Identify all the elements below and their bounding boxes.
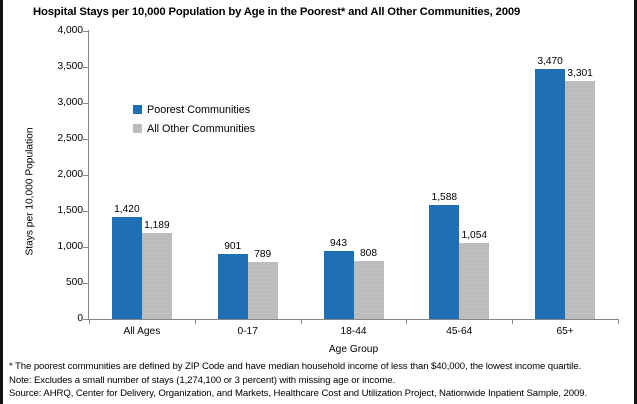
x-category-label: 18-44 xyxy=(294,326,414,337)
x-tick-mark xyxy=(512,319,513,324)
chart-container: Hospital Stays per 10,000 Population by … xyxy=(0,0,637,404)
legend-swatch-icon-poorest xyxy=(133,105,142,114)
bar-group: 901789 xyxy=(218,31,278,319)
x-axis-title: Age Group xyxy=(89,344,618,355)
y-tick-mark xyxy=(83,103,88,104)
bar-poorest[interactable]: 3,470 xyxy=(535,69,565,319)
footnotes: * The poorest communities are defined by… xyxy=(9,360,634,401)
x-tick-mark xyxy=(406,319,407,324)
y-tick-label: 500 xyxy=(37,278,83,288)
bar-value-label: 1,588 xyxy=(432,192,458,203)
bar-all-other[interactable]: 1,054 xyxy=(459,243,489,319)
x-category-label: 0-17 xyxy=(188,326,308,337)
x-tick-mark xyxy=(89,319,90,324)
x-category-label: 45-64 xyxy=(399,326,519,337)
legend-label-poorest: Poorest Communities xyxy=(147,104,250,116)
legend-item-all-other: All Other Communities xyxy=(133,119,255,138)
bar-group: 1,4201,189 xyxy=(112,31,172,319)
y-tick-mark xyxy=(83,67,88,68)
chart-title: Hospital Stays per 10,000 Population by … xyxy=(33,6,623,18)
footnote-source: Source: AHRQ, Center for Delivery, Organ… xyxy=(9,387,634,401)
bar-poorest[interactable]: 1,588 xyxy=(429,205,459,319)
y-tick-mark xyxy=(83,211,88,212)
y-axis-tick-labels: 05001,0001,5002,0002,5003,0003,5004,000 xyxy=(28,0,83,404)
bar-group: 943808 xyxy=(324,31,384,319)
y-tick-label: 1,500 xyxy=(37,206,83,216)
x-axis-line xyxy=(88,319,619,320)
plot-area: 1,4201,1899017899438081,5881,0543,4703,3… xyxy=(89,31,618,319)
y-tick-label: 3,000 xyxy=(37,98,83,108)
y-tick-label: 1,000 xyxy=(37,242,83,252)
y-tick-mark xyxy=(83,175,88,176)
x-category-label: All Ages xyxy=(82,326,202,337)
x-tick-mark xyxy=(301,319,302,324)
bar-all-other[interactable]: 1,189 xyxy=(142,233,172,319)
bar-group: 1,5881,054 xyxy=(429,31,489,319)
bar-group: 3,4703,301 xyxy=(535,31,595,319)
bar-value-label: 3,301 xyxy=(567,68,593,79)
x-tick-mark xyxy=(618,319,619,324)
legend-label-all-other: All Other Communities xyxy=(147,123,255,135)
bar-poorest[interactable]: 943 xyxy=(324,251,354,319)
legend: Poorest Communities All Other Communitie… xyxy=(133,100,255,138)
y-tick-label: 4,000 xyxy=(37,26,83,36)
y-tick-mark xyxy=(83,283,88,284)
bar-poorest[interactable]: 901 xyxy=(218,254,248,319)
bar-value-label: 1,189 xyxy=(144,220,170,231)
footnote-note: Note: Excludes a small number of stays (… xyxy=(9,374,634,388)
bar-value-label: 808 xyxy=(360,248,377,259)
legend-swatch-icon-all-other xyxy=(133,124,142,133)
y-tick-label: 2,000 xyxy=(37,170,83,180)
y-tick-label: 3,500 xyxy=(37,62,83,72)
footnote-asterisk: * The poorest communities are defined by… xyxy=(9,360,634,374)
bar-value-label: 901 xyxy=(224,241,241,252)
y-tick-mark xyxy=(83,319,88,320)
bar-value-label: 1,054 xyxy=(462,230,488,241)
bar-value-label: 943 xyxy=(330,238,347,249)
bar-poorest[interactable]: 1,420 xyxy=(112,217,142,319)
bar-all-other[interactable]: 3,301 xyxy=(565,81,595,319)
x-tick-mark xyxy=(195,319,196,324)
legend-item-poorest: Poorest Communities xyxy=(133,100,255,119)
x-category-label: 65+ xyxy=(505,326,625,337)
bar-all-other[interactable]: 808 xyxy=(354,261,384,319)
y-tick-mark xyxy=(83,139,88,140)
y-tick-label: 2,500 xyxy=(37,134,83,144)
bar-all-other[interactable]: 789 xyxy=(248,262,278,319)
bar-value-label: 3,470 xyxy=(537,56,563,67)
y-tick-mark xyxy=(83,31,88,32)
bar-value-label: 789 xyxy=(254,249,271,260)
y-tick-label: 0 xyxy=(37,314,83,324)
y-tick-mark xyxy=(83,247,88,248)
y-axis-title: Stays per 10,000 Population xyxy=(25,122,36,262)
bar-value-label: 1,420 xyxy=(114,204,140,215)
